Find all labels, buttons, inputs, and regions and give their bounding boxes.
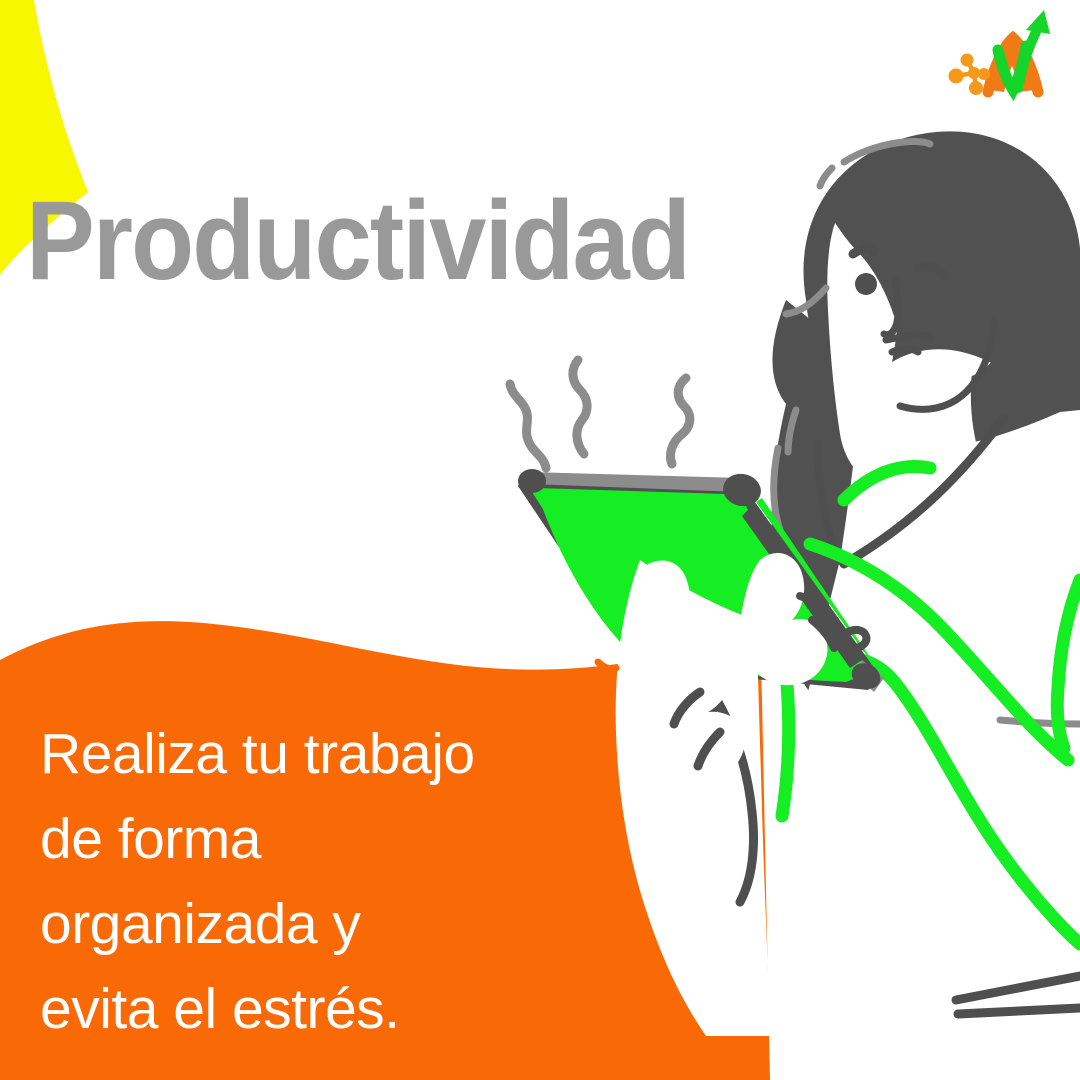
page-title: Productividad — [26, 185, 689, 297]
body-line-4: evita el estrés. — [40, 967, 600, 1052]
body-line-1: Realiza tu trabajo — [40, 712, 600, 797]
logo-arrow-head — [1026, 10, 1050, 34]
poster-canvas: Productividad Realiza tu trabajo de form… — [0, 0, 1080, 1080]
body-line-2: de forma — [40, 797, 600, 882]
body-copy: Realiza tu trabajo de forma organizada y… — [40, 712, 600, 1052]
logo-node-hub — [968, 67, 980, 79]
body-line-3: organizada y — [40, 882, 600, 967]
